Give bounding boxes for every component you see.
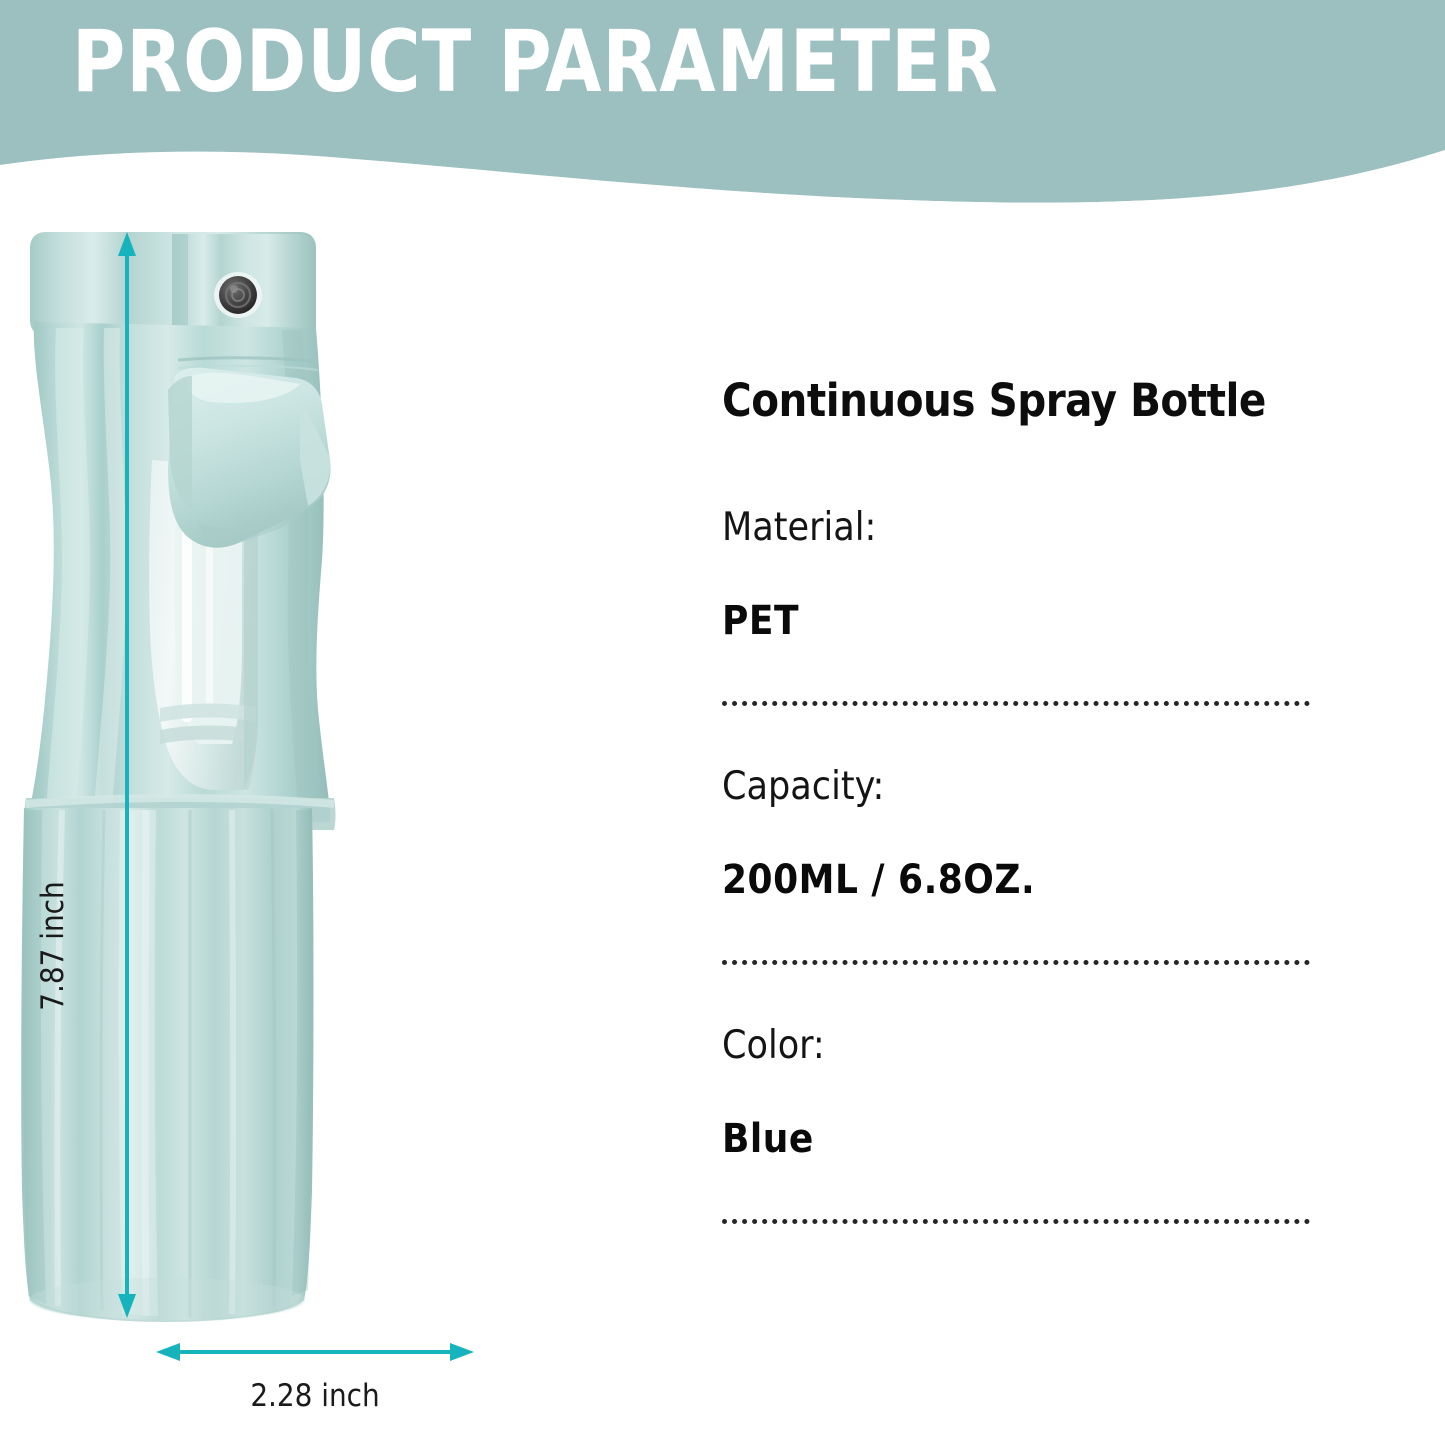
specification-panel: Continuous Spray Bottle Material: PET Ca…	[722, 372, 1322, 1281]
height-dimension-label: 7.87 inch	[35, 841, 71, 1051]
product-illustration-area: 7.87 inch 2.28 inch	[0, 210, 640, 1445]
spray-bottle-illustration	[0, 210, 640, 1445]
spec-row-capacity: Capacity: 200ML / 6.8OZ.	[722, 763, 1312, 905]
page-title: PRODUCT PARAMETER	[72, 16, 1068, 108]
page-header: PRODUCT PARAMETER	[0, 0, 1445, 220]
width-dimension-label: 2.28 inch	[160, 1378, 470, 1414]
spec-divider-1	[722, 701, 1310, 706]
width-dimension-arrow	[156, 1343, 474, 1361]
spray-nozzle-icon	[219, 276, 257, 314]
spec-row-color: Color: Blue	[722, 1022, 1312, 1164]
spec-value-color: Blue	[722, 1114, 1312, 1164]
spec-divider-2	[722, 960, 1310, 965]
spec-label-capacity: Capacity:	[722, 763, 1312, 811]
product-name-heading: Continuous Spray Bottle	[722, 372, 1322, 430]
spec-value-capacity: 200ML / 6.8OZ.	[722, 855, 1312, 905]
spec-value-material: PET	[722, 596, 1312, 646]
spec-divider-3	[722, 1219, 1310, 1224]
spec-label-color: Color:	[722, 1022, 1312, 1070]
spec-row-material: Material: PET	[722, 504, 1312, 646]
spec-label-material: Material:	[722, 504, 1312, 552]
